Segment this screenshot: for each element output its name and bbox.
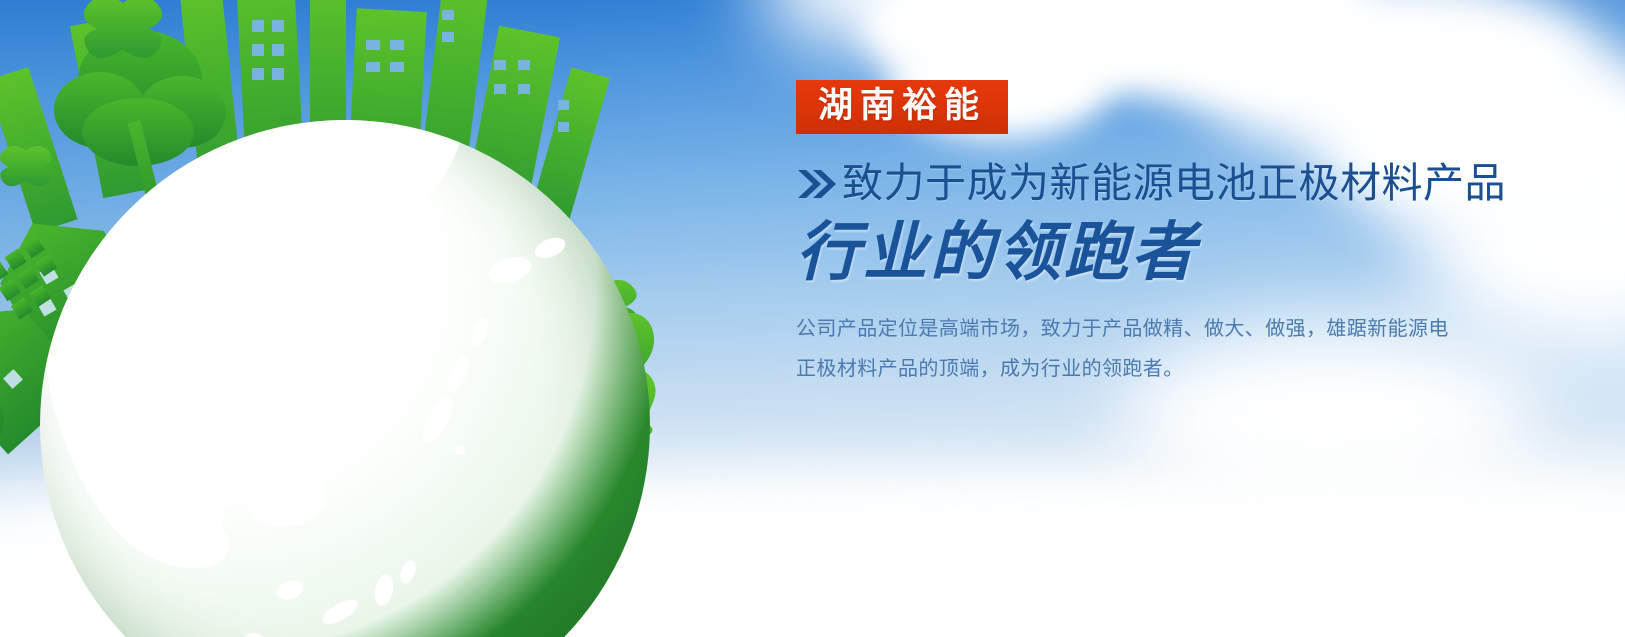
slogan-text: 行业的领跑者 — [796, 219, 1586, 287]
globe-continents — [40, 120, 650, 637]
headline-text: 致力于成为新能源电池正极材料产品 — [842, 162, 1506, 205]
hero-banner: 湖南裕能 致力于成为新能源电池正极材料产品 行业的领跑者 公司产品定位是高端市场… — [0, 0, 1625, 637]
description-line-1: 公司产品定位是高端市场，致力于产品做精、做大、做强，雄踞新能源电 — [796, 309, 1536, 349]
description-line-2: 正极材料产品的顶端，成为行业的领跑者。 — [796, 349, 1536, 389]
eco-globe-illustration — [0, 0, 730, 637]
description-text: 公司产品定位是高端市场，致力于产品做精、做大、做强，雄踞新能源电 正极材料产品的… — [796, 309, 1536, 389]
double-chevron-right-icon — [796, 167, 836, 201]
company-badge: 湖南裕能 — [796, 80, 1008, 134]
banner-content: 湖南裕能 致力于成为新能源电池正极材料产品 行业的领跑者 公司产品定位是高端市场… — [796, 80, 1586, 389]
headline-row: 致力于成为新能源电池正极材料产品 — [796, 162, 1586, 205]
